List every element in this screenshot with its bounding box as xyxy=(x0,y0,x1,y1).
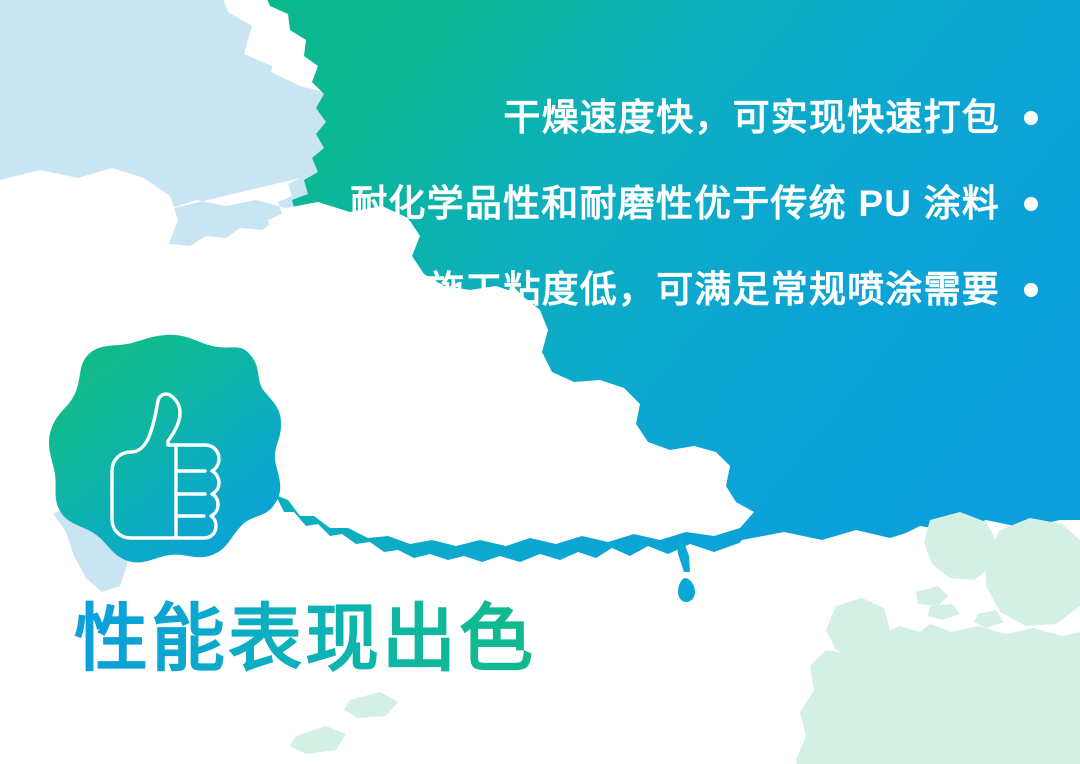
bullet-dot-icon xyxy=(1024,197,1038,211)
feature-row: 施工粘度低，可满足常规喷涂需要 xyxy=(0,260,1038,320)
map-droplet-marks xyxy=(676,536,695,602)
thumbs-up-badge xyxy=(48,333,284,569)
feature-text: 施工粘度低，可满足常规喷涂需要 xyxy=(427,260,1000,320)
feature-text: 干燥速度快，可实现快速打包 xyxy=(503,88,1000,148)
bullet-dot-icon xyxy=(1024,283,1038,297)
feature-text: 耐化学品性和耐磨性优于传统 PU 涂料 xyxy=(350,174,1000,234)
feature-list: 干燥速度快，可实现快速打包 耐化学品性和耐磨性优于传统 PU 涂料 施工粘度低，… xyxy=(0,88,1038,346)
feature-row: 干燥速度快，可实现快速打包 xyxy=(0,88,1038,148)
feature-row: 耐化学品性和耐磨性优于传统 PU 涂料 xyxy=(0,174,1038,234)
page-title: 性能表现出色 xyxy=(74,600,536,678)
poster-root: 干燥速度快，可实现快速打包 耐化学品性和耐磨性优于传统 PU 涂料 施工粘度低，… xyxy=(0,0,1080,764)
badge-blob-shape xyxy=(49,335,281,563)
bullet-dot-icon xyxy=(1024,111,1038,125)
